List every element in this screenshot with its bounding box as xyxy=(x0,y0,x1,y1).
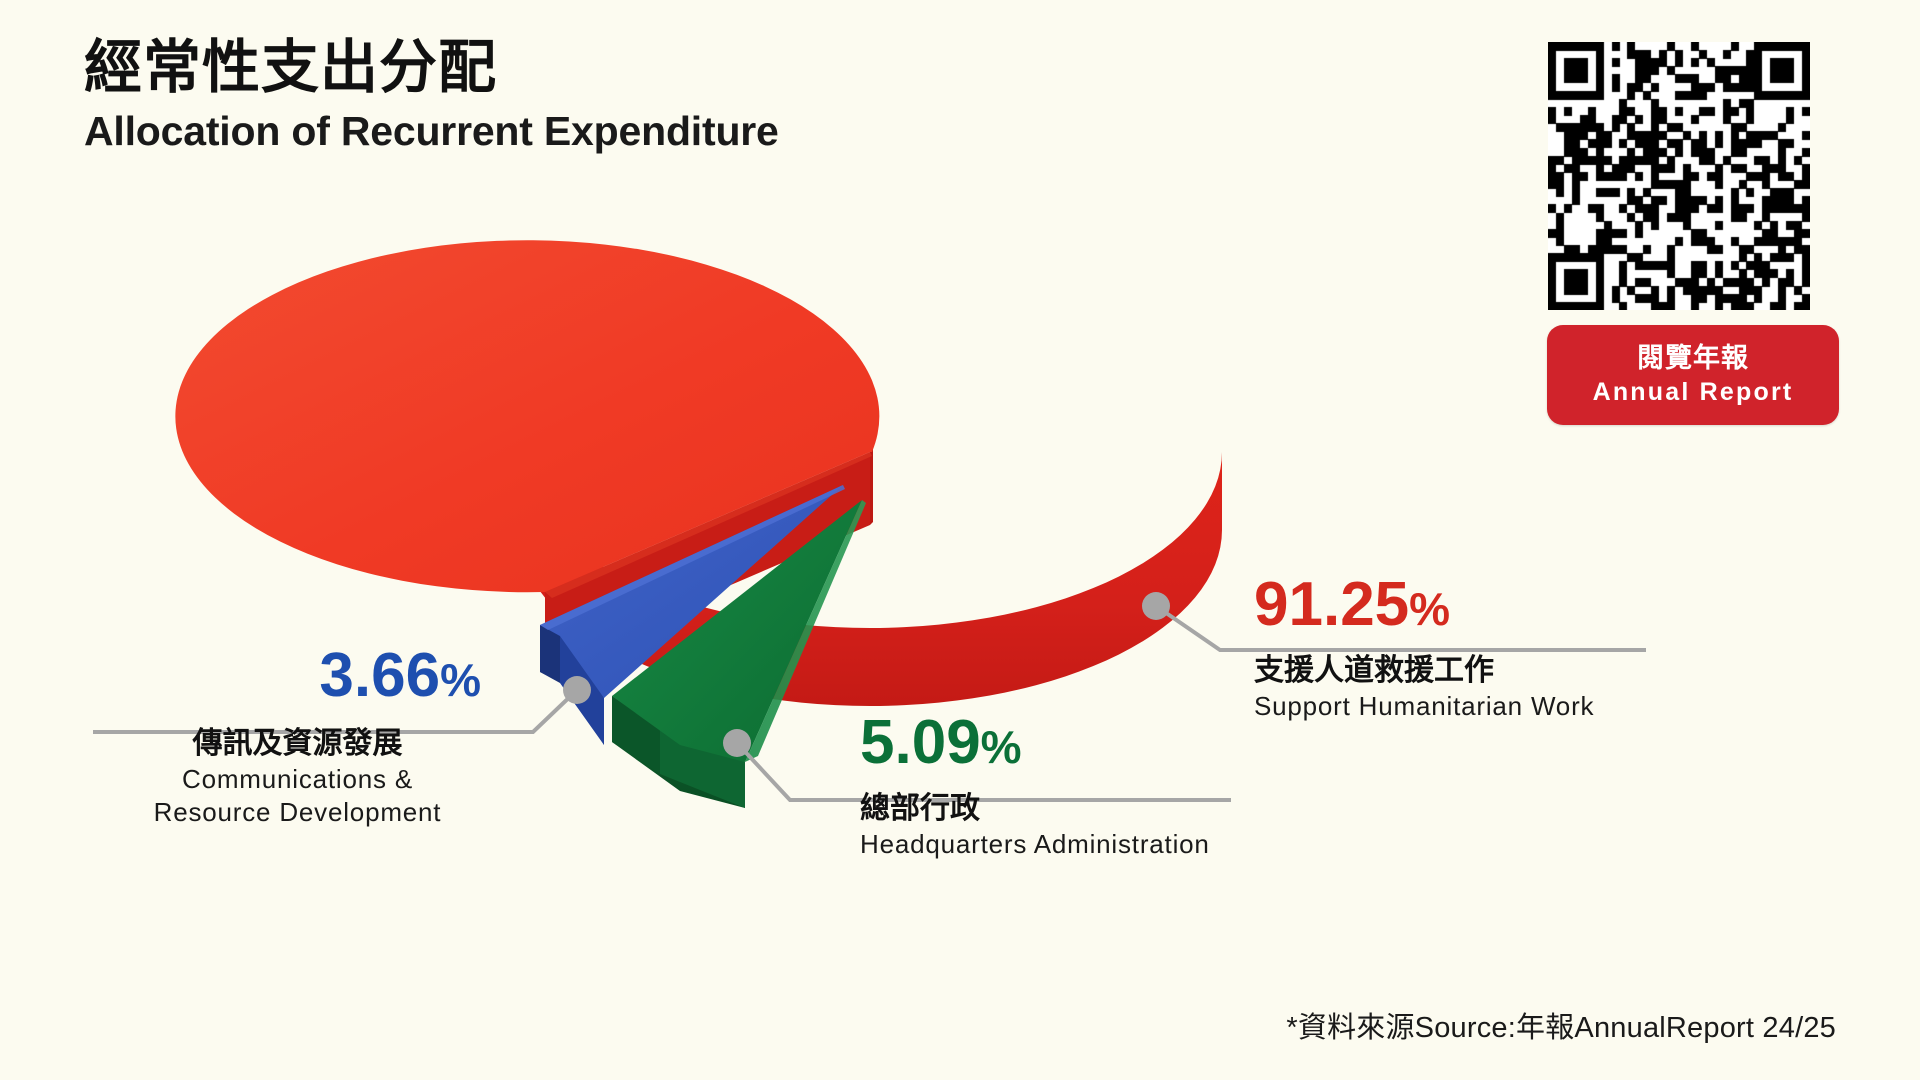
percent-symbol-blue: % xyxy=(440,654,481,706)
leader-dot-blue xyxy=(563,676,591,704)
pie-slice-support-humanitarian-work xyxy=(175,240,1222,706)
category-label-english-blue-line1: Communications & xyxy=(100,763,495,797)
annual-report-button-label-english: Annual Report xyxy=(1593,377,1794,408)
percent-symbol-red: % xyxy=(1409,583,1450,635)
chart-slide: 經常性支出分配 Allocation of Recurrent Expendit… xyxy=(0,0,1920,1080)
percent-value-green: 5.09% xyxy=(860,712,1210,774)
category-label-english-red: Support Humanitarian Work xyxy=(1254,690,1594,724)
leader-dot-green xyxy=(723,729,751,757)
page-title-chinese: 經常性支出分配 xyxy=(84,36,779,101)
category-label-chinese-red: 支援人道救援工作 xyxy=(1254,652,1594,690)
callout-communications-resource-development: 3.66% 傳訊及資源發展 Communications & Resource … xyxy=(100,645,495,830)
qr-code[interactable] xyxy=(1548,42,1810,310)
category-label-chinese-green: 總部行政 xyxy=(860,790,1210,828)
callout-headquarters-administration: 5.09% 總部行政 Headquarters Administration xyxy=(860,712,1210,861)
percent-symbol-green: % xyxy=(981,721,1022,773)
percent-number-red: 91.25 xyxy=(1254,570,1409,639)
qr-code-image[interactable] xyxy=(1548,42,1810,310)
leader-dot-red xyxy=(1142,592,1170,620)
source-note: *資料來源Source:年報AnnualReport 24/25 xyxy=(1286,1004,1836,1046)
pie-slice-headquarters-administration xyxy=(612,500,866,808)
pie-slice-communications-resource-development xyxy=(540,485,845,745)
category-label-english-green: Headquarters Administration xyxy=(860,828,1210,862)
category-label-english-blue-line2: Resource Development xyxy=(100,796,495,830)
percent-value-red: 91.25% xyxy=(1254,574,1594,636)
title-block: 經常性支出分配 Allocation of Recurrent Expendit… xyxy=(84,36,779,156)
category-label-chinese-blue: 傳訊及資源發展 xyxy=(100,725,495,763)
percent-number-green: 5.09 xyxy=(860,708,981,777)
percent-value-blue: 3.66% xyxy=(100,645,495,707)
page-title-english: Allocation of Recurrent Expenditure xyxy=(84,107,779,156)
callout-support-humanitarian-work: 91.25% 支援人道救援工作 Support Humanitarian Wor… xyxy=(1254,574,1594,723)
annual-report-button-label-chinese: 閱覽年報 xyxy=(1637,342,1749,374)
percent-number-blue: 3.66 xyxy=(319,641,440,710)
annual-report-button[interactable]: 閱覽年報 Annual Report xyxy=(1547,325,1839,425)
